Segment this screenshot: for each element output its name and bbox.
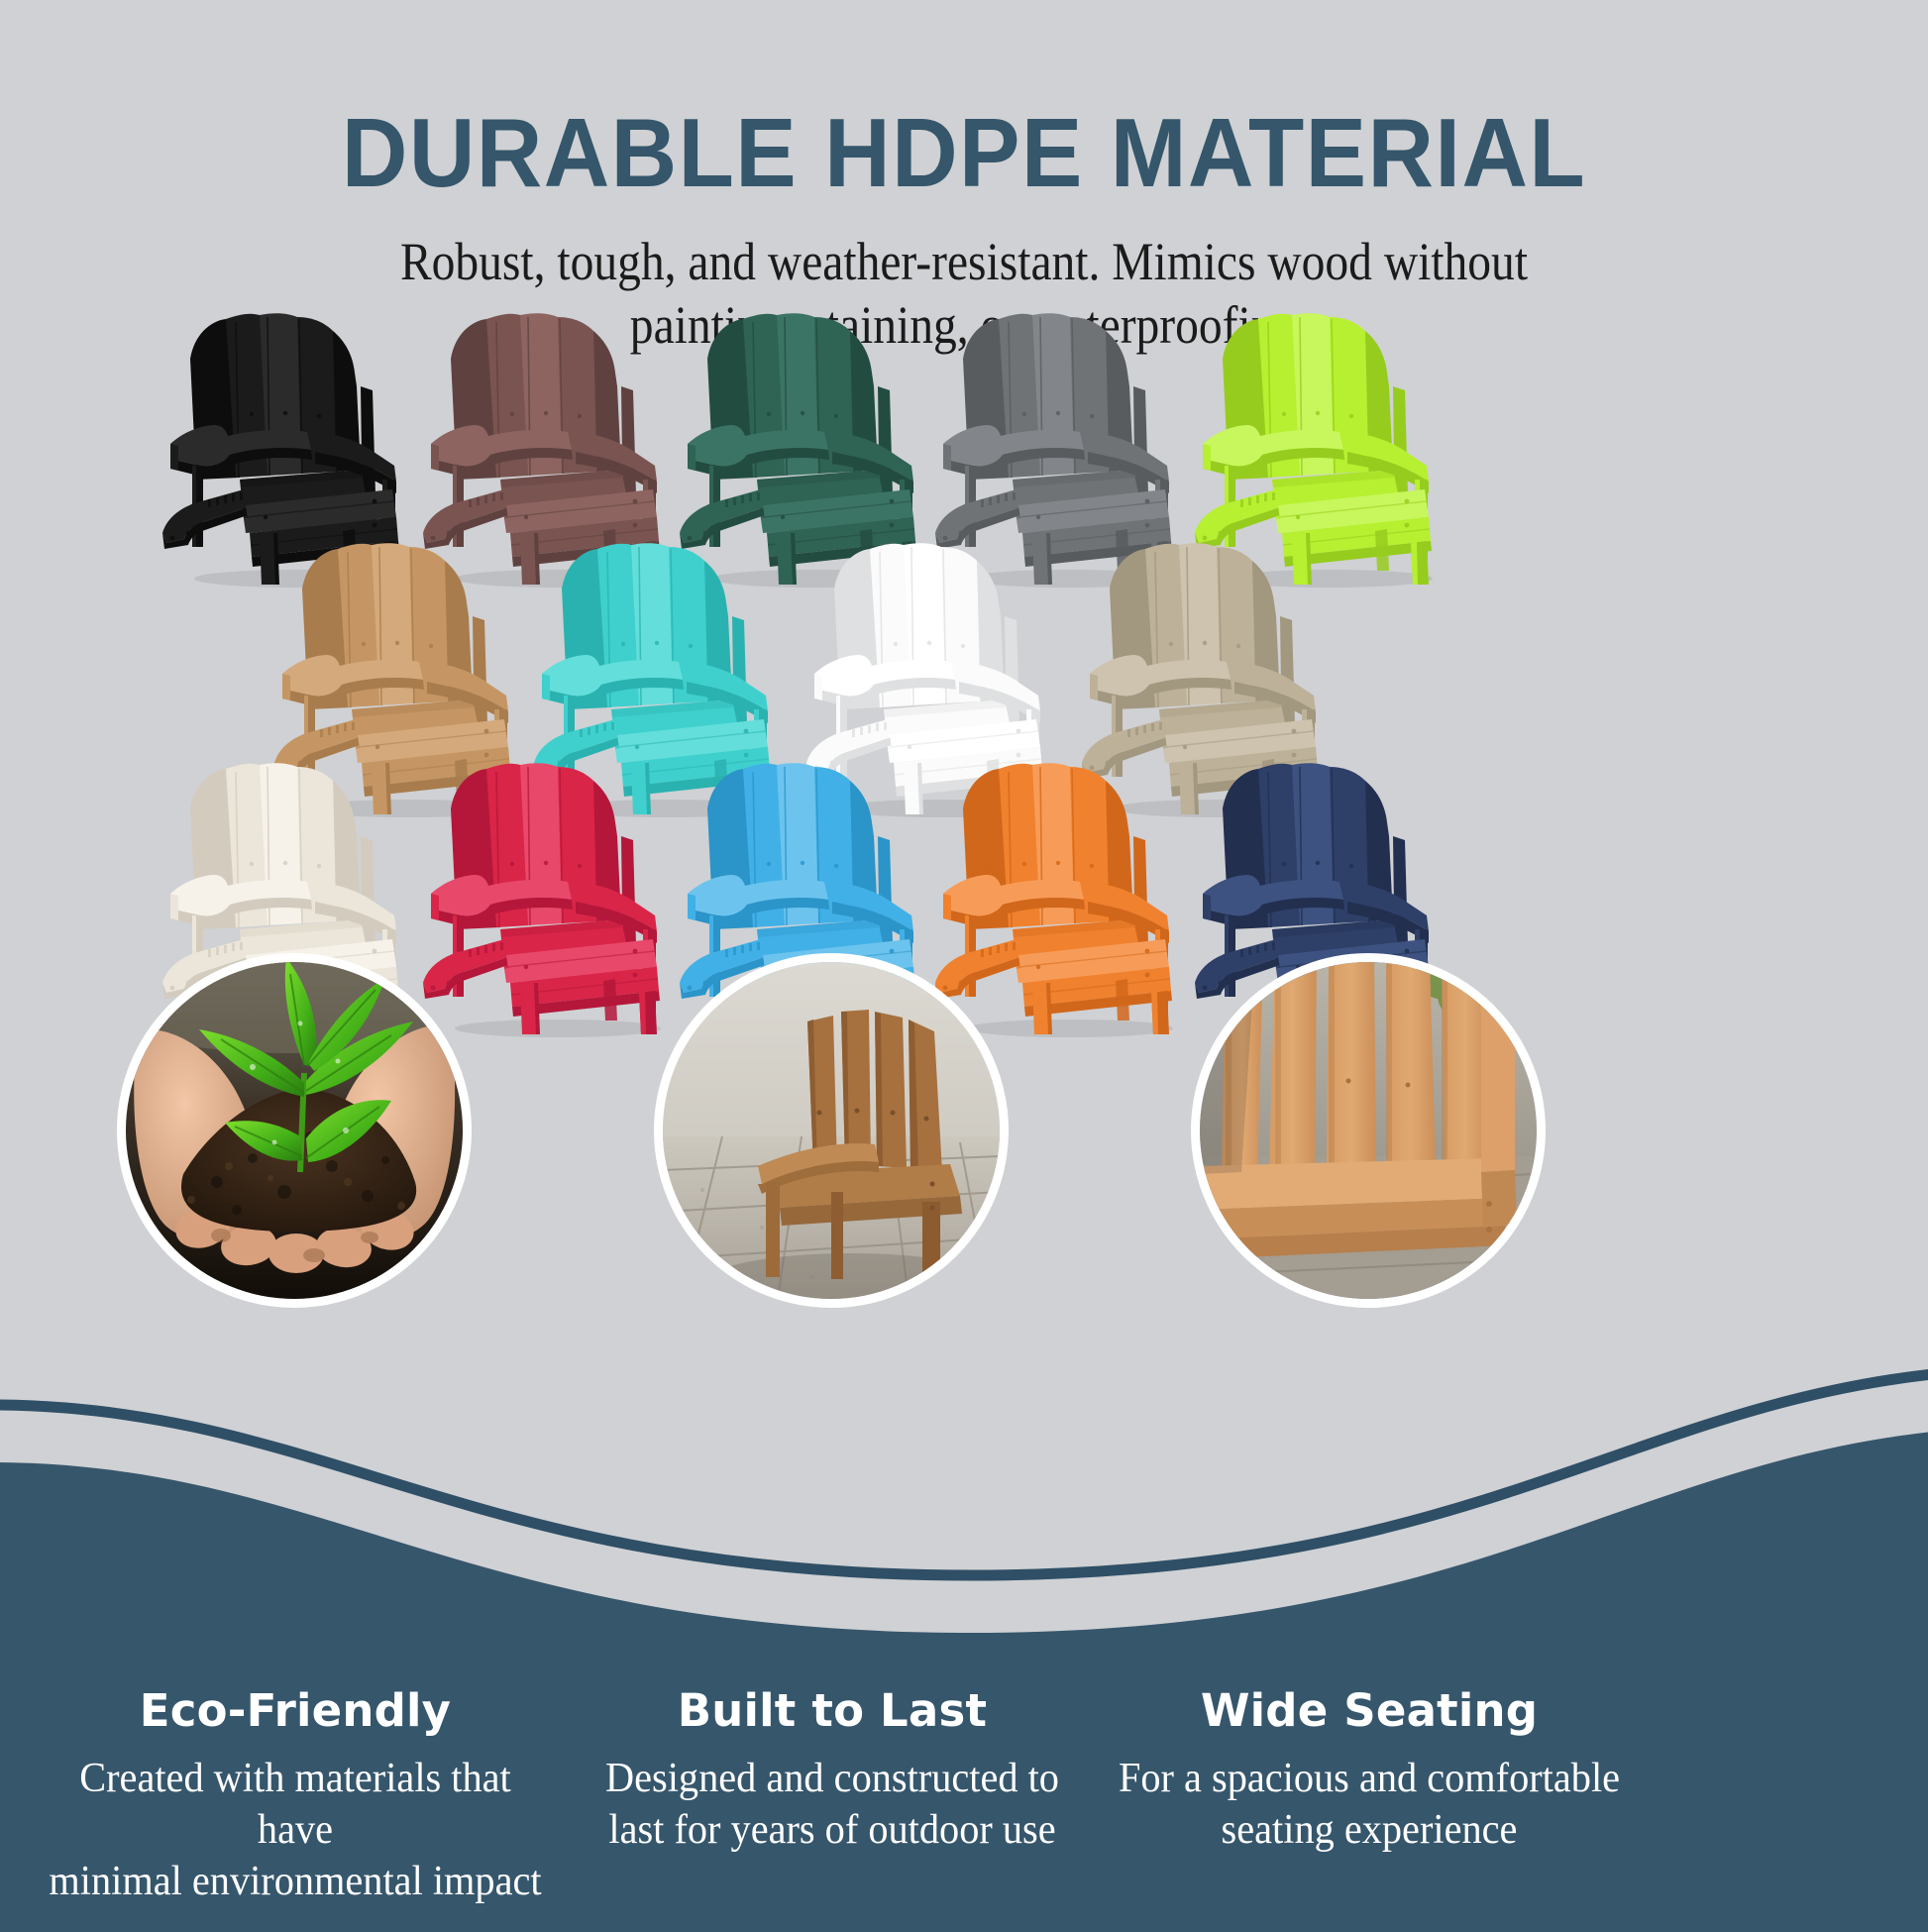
feature-block-wide-seating: Wide Seating For a spacious and comforta… xyxy=(1102,1684,1637,1856)
brown-chair-patio-photo xyxy=(663,962,1000,1299)
hands-soil-plant-photo xyxy=(126,962,463,1299)
feature-description-line1: Created with materials that have xyxy=(79,1756,511,1853)
feature-description-line1: For a spacious and comfortable xyxy=(1119,1756,1620,1801)
chair-swatch-turquoise[interactable] xyxy=(520,525,798,783)
chair-swatch-red[interactable] xyxy=(409,745,687,1003)
feature-title-built-to-last: Built to Last xyxy=(565,1684,1100,1737)
feature-description-line2: last for years of outdoor use xyxy=(608,1807,1055,1853)
infographic-canvas: DURABLE HDPE MATERIAL Robust, tough, and… xyxy=(0,0,1928,1928)
chair-swatch-gray[interactable] xyxy=(921,295,1199,553)
feature-description-line2: seating experience xyxy=(1222,1807,1518,1853)
chair-swatch-teak[interactable] xyxy=(261,525,538,783)
chair-swatch-dark-green[interactable] xyxy=(666,295,943,553)
feature-description-eco-friendly: Created with materials that have minimal… xyxy=(39,1753,552,1907)
feature-description-line2: minimal environmental impact xyxy=(49,1859,541,1904)
feature-description-line1: Designed and constructed to xyxy=(605,1756,1059,1801)
adirondack-chair-icon xyxy=(921,745,1199,1042)
chair-swatch-white[interactable] xyxy=(793,525,1070,783)
feature-photo-wide-seating xyxy=(1191,953,1546,1308)
adirondack-chair-icon xyxy=(409,745,687,1042)
feature-block-built-to-last: Built to Last Designed and constructed t… xyxy=(565,1684,1100,1856)
feature-photo-built-to-last xyxy=(654,953,1009,1308)
feature-description-wide-seating: For a spacious and comfortable seating e… xyxy=(1113,1753,1626,1856)
chair-swatch-orange[interactable] xyxy=(921,745,1199,1003)
chair-swatch-black[interactable] xyxy=(149,295,426,553)
chair-swatch-khaki[interactable] xyxy=(1068,525,1345,783)
chair-swatch-brown[interactable] xyxy=(409,295,687,553)
feature-title-eco-friendly: Eco-Friendly xyxy=(28,1684,563,1737)
feature-block-eco-friendly: Eco-Friendly Created with materials that… xyxy=(28,1684,563,1907)
feature-description-built-to-last: Designed and constructed to last for yea… xyxy=(576,1753,1089,1856)
wide-seat-closeup-photo xyxy=(1200,962,1537,1299)
chair-swatch-lime-green[interactable] xyxy=(1181,295,1458,553)
feature-photo-eco-friendly xyxy=(117,953,472,1308)
feature-title-wide-seating: Wide Seating xyxy=(1102,1684,1637,1737)
